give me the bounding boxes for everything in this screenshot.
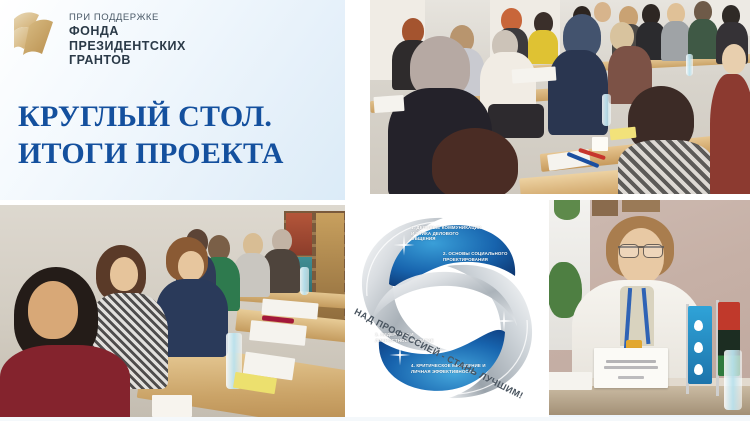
poster-title-line-2: ИТОГИ ПРОЕКТА xyxy=(18,135,354,172)
seam-vertical-bottom-left xyxy=(345,196,348,421)
diagram-module-3-label: 3. ЛИДЕРСТВО И ЛИЧНОСТНОЕ РАЗВИТИЕ xyxy=(375,332,439,343)
fund-support-badge: ПРИ ПОДДЕРЖКЕ ФОНДА ПРЕЗИДЕНТСКИХ ГРАНТО… xyxy=(12,9,186,68)
speaker-portrait-photo xyxy=(548,200,750,415)
seam-horizontal-left xyxy=(0,200,346,205)
handout-paper xyxy=(373,95,404,113)
door-frame xyxy=(592,200,618,216)
plant xyxy=(554,200,580,220)
poster-title: КРУГЛЫЙ СТОЛ. ИТОГИ ПРОЕКТА xyxy=(18,98,354,172)
bottom-strip xyxy=(0,417,750,421)
person-head xyxy=(594,2,611,22)
flag-emblem xyxy=(694,342,703,353)
title-panel: ПРИ ПОДДЕРЖКЕ ФОНДА ПРЕЗИДЕНТСКИХ ГРАНТО… xyxy=(0,0,370,200)
conference-audience-photo xyxy=(370,0,750,194)
fund-name-line-2: ПРЕЗИДЕНТСКИХ xyxy=(69,39,186,54)
presidential-grants-fund-logo xyxy=(12,9,60,59)
poster-title-line-1: КРУГЛЫЙ СТОЛ. xyxy=(18,98,354,135)
foreground-torso xyxy=(618,140,714,194)
diagram-module-4-label: 4. КРИТИЧЕСКОЕ МЫШЛЕНИЕ И ЛИЧНАЯ ЭФФЕКТИ… xyxy=(411,363,489,374)
seam-vertical-bottom-right xyxy=(546,196,549,421)
speaker-scene xyxy=(548,200,750,415)
cup xyxy=(592,137,608,151)
person-torso xyxy=(688,19,718,59)
water-bottle xyxy=(602,94,611,126)
shelf-items xyxy=(316,213,344,325)
fund-name-line-3: ГРАНТОВ xyxy=(69,53,186,68)
person-torso xyxy=(710,74,750,194)
name-card-line xyxy=(606,360,656,363)
person-head xyxy=(722,44,746,74)
person-torso xyxy=(0,345,130,417)
diagram-module-2-label: 2. ОСНОВЫ СОЦИАЛЬНОГО ПРОЕКТИРОВАНИЯ xyxy=(443,251,511,262)
participants-scene xyxy=(0,205,345,417)
glasses-icon xyxy=(619,244,639,258)
audience-scene xyxy=(370,0,750,194)
water-bottle xyxy=(686,54,693,76)
water-bottle xyxy=(300,267,309,295)
name-card-line xyxy=(604,366,658,369)
poster-collage: ПРИ ПОДДЕРЖКЕ ФОНДА ПРЕЗИДЕНТСКИХ ГРАНТО… xyxy=(0,0,750,421)
professional-development-diagram: 1. ДЕЛОВЫЕ КОММУНИКАЦИИ И ЭТИКА ДЕЛОВОГО… xyxy=(345,200,548,417)
foreground-hair xyxy=(432,128,518,194)
person-head xyxy=(178,251,204,281)
flag-emblem xyxy=(694,320,703,331)
glasses-icon xyxy=(643,244,663,258)
seam-vertical-top xyxy=(345,0,370,200)
water-bottle xyxy=(724,350,742,410)
person-head xyxy=(28,281,78,339)
door-frame xyxy=(622,200,660,212)
name-card-line xyxy=(618,376,644,379)
diagram-graphic: 1. ДЕЛОВЫЕ КОММУНИКАЦИИ И ЭТИКА ДЕЛОВОГО… xyxy=(345,200,548,417)
handout-paper xyxy=(548,372,592,390)
diagram-module-1-label: 1. ДЕЛОВЫЕ КОММУНИКАЦИИ И ЭТИКА ДЕЛОВОГО… xyxy=(411,225,483,242)
person-torso xyxy=(548,50,608,135)
fund-support-label: ПРИ ПОДДЕРЖКЕ xyxy=(69,12,186,24)
participants-at-table-photo xyxy=(0,205,345,417)
flag-emblem xyxy=(694,364,703,375)
fund-name-line-1: ФОНДА xyxy=(69,24,186,39)
sparkle-icon xyxy=(495,312,513,330)
person-head xyxy=(110,257,138,291)
cup xyxy=(152,395,192,417)
person-torso xyxy=(528,30,558,64)
fund-badge-text: ПРИ ПОДДЕРЖКЕ ФОНДА ПРЕЗИДЕНТСКИХ ГРАНТО… xyxy=(69,9,186,68)
